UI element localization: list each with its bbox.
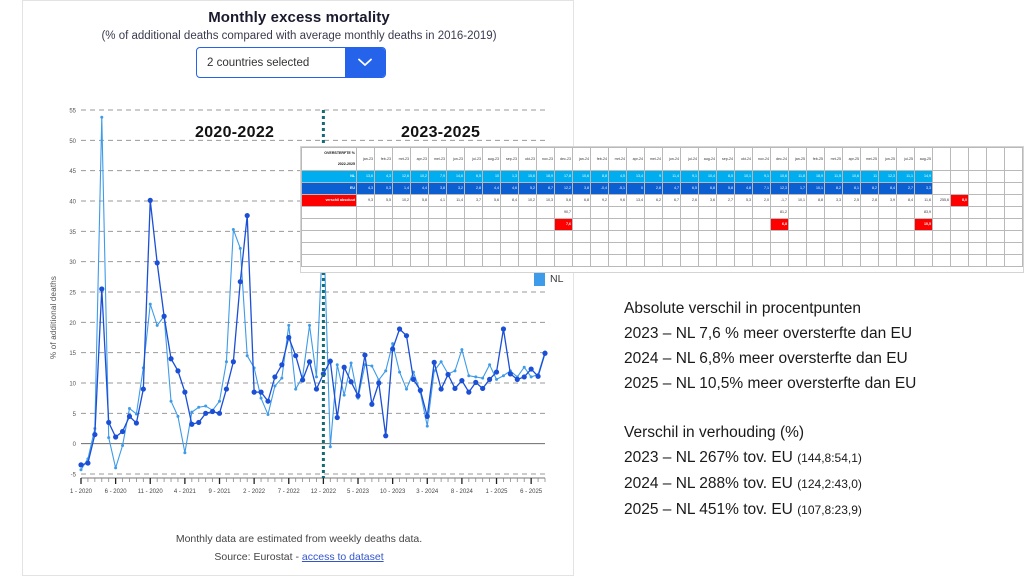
blank-cell[interactable]	[969, 195, 987, 207]
blank-cell[interactable]	[753, 207, 771, 219]
row-eu-cell[interactable]: 7,1	[753, 183, 771, 195]
blank-cell[interactable]	[897, 231, 915, 243]
blank-cell[interactable]	[789, 231, 807, 243]
blank-cell[interactable]	[879, 207, 897, 219]
row-verschil-absoluut-cell[interactable]: 2,7	[717, 195, 735, 207]
blank-cell[interactable]	[357, 207, 375, 219]
blank-cell[interactable]	[915, 243, 933, 255]
blank-cell[interactable]	[393, 231, 411, 243]
row-nl-cell[interactable]: 4,3	[375, 171, 393, 183]
row-nl-cell[interactable]: 9,1	[753, 171, 771, 183]
blank-cell[interactable]	[375, 255, 393, 267]
blank-cell[interactable]	[447, 219, 465, 231]
blank-cell[interactable]	[465, 207, 483, 219]
blank-cell[interactable]	[681, 255, 699, 267]
blank-cell[interactable]	[915, 231, 933, 243]
blank-cell[interactable]	[753, 243, 771, 255]
blank-cell[interactable]	[537, 231, 555, 243]
month-header-cell[interactable]: aug-23	[483, 148, 501, 171]
blank-cell[interactable]	[609, 219, 627, 231]
blank-cell[interactable]	[609, 243, 627, 255]
blank-cell[interactable]	[663, 207, 681, 219]
row-verschil-absoluut-cell[interactable]: 10,1	[789, 195, 807, 207]
blank-cell[interactable]	[969, 148, 987, 171]
blank-cell[interactable]	[1005, 231, 1023, 243]
row-nl-cell[interactable]: 11,5	[825, 171, 843, 183]
blank-cell[interactable]	[519, 219, 537, 231]
blank-cell[interactable]	[663, 231, 681, 243]
blank-cell[interactable]	[591, 243, 609, 255]
blank-cell[interactable]	[1005, 219, 1023, 231]
year-ratio-cell[interactable]: 90,7	[555, 207, 573, 219]
blank-cell[interactable]	[555, 243, 573, 255]
month-header-cell[interactable]: feb-24	[591, 148, 609, 171]
row-eu-cell[interactable]: 4,6	[501, 183, 519, 195]
blank-cell[interactable]	[933, 183, 951, 195]
month-header-cell[interactable]: mei-23	[429, 148, 447, 171]
row-eu-cell[interactable]: 4,3	[357, 183, 375, 195]
blank-cell[interactable]	[789, 219, 807, 231]
blank-cell[interactable]	[843, 243, 861, 255]
blank-cell[interactable]	[735, 255, 753, 267]
blank-cell[interactable]	[735, 231, 753, 243]
blank-cell[interactable]	[537, 207, 555, 219]
blank-cell[interactable]	[987, 219, 1005, 231]
month-header-cell[interactable]: feb-23	[375, 148, 393, 171]
row-nl-cell[interactable]: 4,5	[609, 171, 627, 183]
row-nl-cell[interactable]: 8,5	[717, 171, 735, 183]
row-verschil-absoluut-cell[interactable]: 3,3	[825, 195, 843, 207]
row-nl-cell[interactable]: 18,9	[807, 171, 825, 183]
blank-cell[interactable]	[933, 171, 951, 183]
blank-cell[interactable]	[645, 207, 663, 219]
blank-cell[interactable]	[627, 255, 645, 267]
blank-cell[interactable]	[663, 255, 681, 267]
blank-cell[interactable]	[591, 207, 609, 219]
row-nl-cell[interactable]: 10,6	[843, 171, 861, 183]
blank-cell[interactable]	[302, 255, 357, 267]
blank-cell[interactable]	[933, 219, 951, 231]
month-header-cell[interactable]: jun-24	[663, 148, 681, 171]
month-header-cell[interactable]: mrt-24	[609, 148, 627, 171]
blank-cell[interactable]	[789, 255, 807, 267]
row-eu-cell[interactable]: 10,1	[807, 183, 825, 195]
row-nl-cell[interactable]: 6,5	[465, 171, 483, 183]
month-header-cell[interactable]: jul-23	[465, 148, 483, 171]
row-eu-cell[interactable]: -5,1	[609, 183, 627, 195]
row-verschil-absoluut-cell[interactable]: 2,6	[681, 195, 699, 207]
blank-cell[interactable]	[699, 207, 717, 219]
blank-cell[interactable]	[627, 207, 645, 219]
blank-cell[interactable]	[627, 231, 645, 243]
blank-cell[interactable]	[447, 243, 465, 255]
row-verschil-absoluut-cell[interactable]: 2,5	[843, 195, 861, 207]
blank-cell[interactable]	[447, 231, 465, 243]
row-eu-cell[interactable]: 8,7	[537, 183, 555, 195]
row-eu-cell[interactable]: 12,2	[555, 183, 573, 195]
blank-cell[interactable]	[987, 207, 1005, 219]
month-header-cell[interactable]: okt-24	[735, 148, 753, 171]
row-verschil-absoluut-cell[interactable]: 3,6	[699, 195, 717, 207]
row-eu-cell[interactable]: 5,8	[717, 183, 735, 195]
blank-cell[interactable]	[483, 219, 501, 231]
blank-cell[interactable]	[1005, 183, 1023, 195]
blank-cell[interactable]	[753, 231, 771, 243]
row-nl-cell[interactable]: 9	[645, 171, 663, 183]
blank-cell[interactable]	[555, 255, 573, 267]
blank-cell[interactable]	[987, 243, 1005, 255]
row-verschil-absoluut-cell[interactable]: 9,6	[609, 195, 627, 207]
blank-cell[interactable]	[663, 243, 681, 255]
month-header-cell[interactable]: apr-25	[843, 148, 861, 171]
blank-cell[interactable]	[375, 207, 393, 219]
blank-cell[interactable]	[519, 243, 537, 255]
row-nl-cell[interactable]: 13,4	[627, 171, 645, 183]
blank-cell[interactable]	[969, 243, 987, 255]
month-header-cell[interactable]: aug-25	[915, 148, 933, 171]
blank-cell[interactable]	[573, 219, 591, 231]
row-eu-cell[interactable]: 2,7	[897, 183, 915, 195]
blank-cell[interactable]	[825, 255, 843, 267]
row-verschil-absoluut-cell[interactable]: 5,8	[411, 195, 429, 207]
blank-cell[interactable]	[699, 243, 717, 255]
row-nl-cell[interactable]: 11,4	[663, 171, 681, 183]
blank-cell[interactable]	[879, 219, 897, 231]
month-header-cell[interactable]: feb-25	[807, 148, 825, 171]
row-nl-cell[interactable]: 10,6	[573, 171, 591, 183]
row-verschil-absoluut-cell[interactable]: 13,4	[627, 195, 645, 207]
blank-cell[interactable]	[483, 231, 501, 243]
row-nl-cell[interactable]: 18,9	[537, 171, 555, 183]
blank-cell[interactable]	[483, 207, 501, 219]
blank-cell[interactable]	[825, 219, 843, 231]
blank-cell[interactable]	[681, 219, 699, 231]
blank-cell[interactable]	[717, 255, 735, 267]
row-nl-cell[interactable]: 10,2	[411, 171, 429, 183]
row-verschil-absoluut-cell[interactable]: 10,3	[537, 195, 555, 207]
blank-cell[interactable]	[537, 243, 555, 255]
blank-cell[interactable]	[591, 231, 609, 243]
row-verschil-absoluut-cell[interactable]: 2,0	[753, 195, 771, 207]
blank-cell[interactable]	[951, 171, 969, 183]
chevron-down-icon[interactable]	[345, 48, 385, 77]
row-verschil-absoluut-cell[interactable]: 11,4	[447, 195, 465, 207]
blank-cell[interactable]	[969, 255, 987, 267]
row-eu-cell[interactable]: 2,8	[465, 183, 483, 195]
blank-cell[interactable]	[807, 231, 825, 243]
blank-cell[interactable]	[501, 231, 519, 243]
blank-cell[interactable]	[681, 243, 699, 255]
blank-cell[interactable]	[969, 231, 987, 243]
blank-cell[interactable]	[717, 243, 735, 255]
row-verschil-absoluut-cell[interactable]: 10,2	[519, 195, 537, 207]
blank-cell[interactable]	[519, 255, 537, 267]
row-nl-cell[interactable]: 10,4	[699, 171, 717, 183]
blank-cell[interactable]	[302, 243, 357, 255]
row-nl-cell[interactable]: 11,8	[789, 171, 807, 183]
year-ratio-cell[interactable]: 81,2	[771, 207, 789, 219]
month-header-cell[interactable]: mei-25	[861, 148, 879, 171]
blank-cell[interactable]	[465, 231, 483, 243]
blank-cell[interactable]	[429, 207, 447, 219]
row-verschil-absoluut-cell[interactable]: 9,2	[591, 195, 609, 207]
blank-cell[interactable]	[717, 231, 735, 243]
blank-cell[interactable]	[393, 219, 411, 231]
blank-cell[interactable]	[501, 255, 519, 267]
blank-cell[interactable]	[375, 219, 393, 231]
blank-cell[interactable]	[302, 231, 357, 243]
blank-cell[interactable]	[302, 207, 357, 219]
row-nl-cell[interactable]: 9,1	[681, 171, 699, 183]
blank-cell[interactable]	[411, 219, 429, 231]
year-diff-red-cell[interactable]: 7,6	[555, 219, 573, 231]
blank-cell[interactable]	[699, 231, 717, 243]
month-header-cell[interactable]: jun-25	[879, 148, 897, 171]
month-header-cell[interactable]: sep-24	[717, 148, 735, 171]
row-nl-cell[interactable]: 8,8	[591, 171, 609, 183]
blank-cell[interactable]	[843, 255, 861, 267]
blank-cell[interactable]	[699, 219, 717, 231]
row-verschil-absoluut-cell[interactable]: 3,9	[879, 195, 897, 207]
row-eu-cell[interactable]: 3,2	[447, 183, 465, 195]
blank-cell[interactable]	[645, 231, 663, 243]
blank-cell[interactable]	[393, 243, 411, 255]
year-diff-red-cell[interactable]: 10,5	[915, 219, 933, 231]
blank-cell[interactable]	[627, 219, 645, 231]
blank-cell[interactable]	[663, 219, 681, 231]
blank-cell[interactable]	[411, 255, 429, 267]
blank-cell[interactable]	[357, 243, 375, 255]
blank-cell[interactable]	[1005, 171, 1023, 183]
oversterfte-spreadsheet[interactable]: OVERSTERFTE %2022-2025jan-23feb-23mrt-23…	[300, 146, 1024, 273]
blank-cell[interactable]	[789, 243, 807, 255]
row-eu-cell[interactable]: 4,8	[735, 183, 753, 195]
blank-cell[interactable]	[375, 231, 393, 243]
blank-cell[interactable]	[861, 231, 879, 243]
blank-cell[interactable]	[302, 219, 357, 231]
blank-cell[interactable]	[357, 219, 375, 231]
month-header-cell[interactable]: mei-24	[645, 148, 663, 171]
blank-cell[interactable]	[771, 231, 789, 243]
blank-cell[interactable]	[609, 231, 627, 243]
blank-cell[interactable]	[969, 183, 987, 195]
blank-cell[interactable]	[789, 207, 807, 219]
row-verschil-absoluut-cell[interactable]: 5,3	[735, 195, 753, 207]
row-eu-cell[interactable]: 6,8	[699, 183, 717, 195]
blank-cell[interactable]	[591, 255, 609, 267]
blank-cell[interactable]	[501, 207, 519, 219]
blank-cell[interactable]	[933, 231, 951, 243]
row-nl-cell[interactable]: 11,1	[897, 171, 915, 183]
source-link[interactable]: access to dataset	[302, 551, 384, 563]
month-header-cell[interactable]: nov-24	[753, 148, 771, 171]
blank-cell[interactable]	[915, 255, 933, 267]
blank-cell[interactable]	[375, 243, 393, 255]
blank-cell[interactable]	[807, 255, 825, 267]
row-verschil-absoluut-cell[interactable]: 3,7	[465, 195, 483, 207]
month-header-cell[interactable]: okt-23	[519, 148, 537, 171]
blank-cell[interactable]	[951, 148, 969, 171]
blank-cell[interactable]	[645, 243, 663, 255]
blank-cell[interactable]	[933, 207, 951, 219]
blank-cell[interactable]	[1005, 255, 1023, 267]
row-verschil-absoluut-cell[interactable]: 8,4	[501, 195, 519, 207]
row-eu-cell[interactable]: 4,7	[663, 183, 681, 195]
row-nl-cell[interactable]: 12,3	[879, 171, 897, 183]
row-eu-cell[interactable]: 4,4	[411, 183, 429, 195]
blank-cell[interactable]	[735, 243, 753, 255]
blank-cell[interactable]	[537, 219, 555, 231]
blank-cell[interactable]	[807, 219, 825, 231]
blank-cell[interactable]	[933, 148, 951, 171]
row-nl-cell[interactable]: 10	[483, 171, 501, 183]
blank-cell[interactable]	[1005, 243, 1023, 255]
blank-cell[interactable]	[429, 231, 447, 243]
blank-cell[interactable]	[555, 231, 573, 243]
blank-cell[interactable]	[951, 207, 969, 219]
blank-cell[interactable]	[951, 231, 969, 243]
row-verschil-absoluut-cell[interactable]: -1,7	[771, 195, 789, 207]
blank-cell[interactable]	[1005, 195, 1023, 207]
blank-cell[interactable]	[951, 243, 969, 255]
row-eu-cell[interactable]: 8,4	[879, 183, 897, 195]
row-nl-cell[interactable]: 12,6	[393, 171, 411, 183]
blank-cell[interactable]	[645, 255, 663, 267]
blank-cell[interactable]	[861, 243, 879, 255]
blank-cell[interactable]	[717, 219, 735, 231]
blank-cell[interactable]	[825, 243, 843, 255]
row-eu-cell[interactable]: 0,3	[375, 183, 393, 195]
blank-cell[interactable]	[411, 207, 429, 219]
row-eu-cell[interactable]: 5,2	[519, 183, 537, 195]
row-eu-cell[interactable]: 3,8	[573, 183, 591, 195]
blank-cell[interactable]	[987, 255, 1005, 267]
blank-cell[interactable]	[987, 183, 1005, 195]
blank-cell[interactable]	[429, 243, 447, 255]
blank-cell[interactable]	[1005, 148, 1023, 171]
blank-cell[interactable]	[591, 219, 609, 231]
blank-cell[interactable]	[987, 231, 1005, 243]
row-verschil-absoluut-cell[interactable]: 6,7	[663, 195, 681, 207]
row-verschil-absoluut-cell[interactable]: 8,4	[897, 195, 915, 207]
blank-cell[interactable]	[1005, 207, 1023, 219]
blank-cell[interactable]	[897, 207, 915, 219]
blank-cell[interactable]	[933, 255, 951, 267]
blank-cell[interactable]	[627, 243, 645, 255]
month-header-cell[interactable]: jun-23	[447, 148, 465, 171]
blank-cell[interactable]	[861, 255, 879, 267]
blank-cell[interactable]	[735, 207, 753, 219]
blank-cell[interactable]	[771, 243, 789, 255]
blank-cell[interactable]	[681, 231, 699, 243]
row-verschil-absoluut-cell[interactable]: 4,1	[429, 195, 447, 207]
blank-cell[interactable]	[951, 255, 969, 267]
row-nl-cell[interactable]: 17,8	[555, 171, 573, 183]
blank-cell[interactable]	[429, 255, 447, 267]
row-eu-cell[interactable]: 1,7	[789, 183, 807, 195]
blank-cell[interactable]	[843, 207, 861, 219]
blank-cell[interactable]	[969, 171, 987, 183]
blank-cell[interactable]	[519, 231, 537, 243]
blank-cell[interactable]	[465, 255, 483, 267]
blank-cell[interactable]	[879, 255, 897, 267]
row-verschil-absoluut-cell[interactable]: 2,8	[861, 195, 879, 207]
blank-cell[interactable]	[897, 255, 915, 267]
blank-cell[interactable]	[501, 219, 519, 231]
row-eu-cell[interactable]: 6,5	[681, 183, 699, 195]
blank-cell[interactable]	[573, 255, 591, 267]
blank-cell[interactable]	[447, 255, 465, 267]
blank-cell[interactable]	[753, 255, 771, 267]
row-verschil-absoluut-cell[interactable]: 5,6	[555, 195, 573, 207]
blank-cell[interactable]	[879, 243, 897, 255]
blank-cell[interactable]	[879, 231, 897, 243]
blank-cell[interactable]	[447, 207, 465, 219]
year-diff-red-cell[interactable]: 6,8	[771, 219, 789, 231]
blank-cell[interactable]	[987, 171, 1005, 183]
row-eu-cell[interactable]: 12,3	[771, 183, 789, 195]
month-header-cell[interactable]: jan-25	[789, 148, 807, 171]
blank-cell[interactable]	[681, 207, 699, 219]
month-header-cell[interactable]: mrt-23	[393, 148, 411, 171]
row-verschil-absoluut-cell[interactable]: 5,5	[375, 195, 393, 207]
month-header-cell[interactable]: mrt-25	[825, 148, 843, 171]
row-nl-cell[interactable]: 14,9	[915, 171, 933, 183]
month-header-cell[interactable]: jul-25	[897, 148, 915, 171]
row-eu-cell[interactable]: 2,8	[645, 183, 663, 195]
row-verschil-absoluut-cell[interactable]: 6,2	[645, 195, 663, 207]
row-verschil-absoluut-cell[interactable]: 5,6	[483, 195, 501, 207]
blank-cell[interactable]	[573, 231, 591, 243]
row-verschil-absoluut-cell[interactable]: 8,8	[807, 195, 825, 207]
blank-cell[interactable]	[411, 231, 429, 243]
row-verschil-absoluut-cell[interactable]: 9,3	[357, 195, 375, 207]
month-header-cell[interactable]: jan-24	[573, 148, 591, 171]
blank-cell[interactable]	[951, 219, 969, 231]
row-eu-cell[interactable]: 0	[627, 183, 645, 195]
blank-cell[interactable]	[807, 243, 825, 255]
blank-cell[interactable]	[465, 219, 483, 231]
blank-cell[interactable]	[357, 231, 375, 243]
row-verschil-absoluut-cell[interactable]: 10,2	[393, 195, 411, 207]
row-nl-cell[interactable]: 14,6	[447, 171, 465, 183]
blank-cell[interactable]	[483, 243, 501, 255]
blank-cell[interactable]	[951, 183, 969, 195]
row-nl-cell[interactable]: 13,6	[357, 171, 375, 183]
blank-cell[interactable]	[969, 219, 987, 231]
blank-cell[interactable]	[807, 207, 825, 219]
country-select-dropdown[interactable]: 2 countries selected	[196, 47, 386, 78]
blank-cell[interactable]	[843, 219, 861, 231]
blank-cell[interactable]	[411, 243, 429, 255]
blank-cell[interactable]	[753, 219, 771, 231]
blank-cell[interactable]	[609, 255, 627, 267]
blank-cell[interactable]	[483, 255, 501, 267]
blank-cell[interactable]	[897, 243, 915, 255]
blank-cell[interactable]	[429, 219, 447, 231]
row-nl-cell[interactable]: 11	[861, 171, 879, 183]
blank-cell[interactable]	[861, 207, 879, 219]
month-header-cell[interactable]: apr-24	[627, 148, 645, 171]
blank-cell[interactable]	[393, 255, 411, 267]
blank-cell[interactable]	[969, 207, 987, 219]
row-nl-cell[interactable]: 7,9	[429, 171, 447, 183]
blank-cell[interactable]	[519, 207, 537, 219]
row-nl-cell[interactable]: 15,6	[519, 171, 537, 183]
blank-cell[interactable]	[843, 231, 861, 243]
blank-cell[interactable]	[609, 207, 627, 219]
month-header-cell[interactable]: aug-24	[699, 148, 717, 171]
